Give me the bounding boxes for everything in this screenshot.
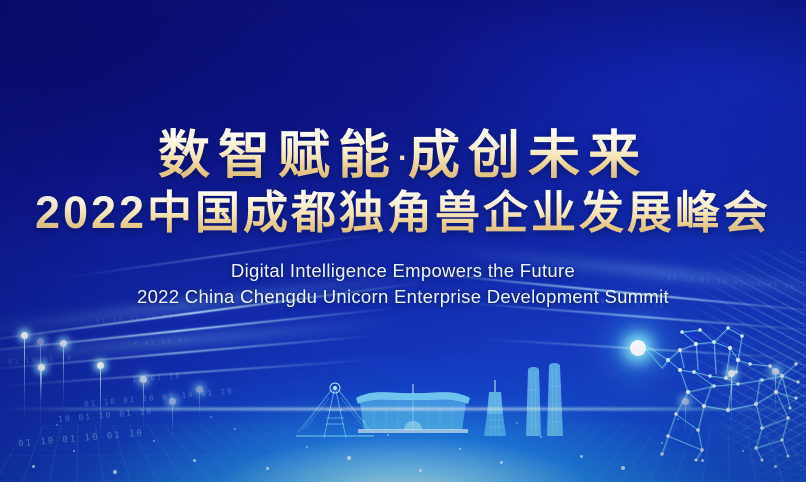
sub-title-cn: 2022中国成都独角兽企业发展峰会 [0,186,806,239]
subtitle-en-line2: 2022 China Chengdu Unicorn Enterprise De… [0,284,806,310]
title-block: 数智赋能·成创未来 2022中国成都独角兽企业发展峰会 [0,128,806,239]
subtitle-en-line1: Digital Intelligence Empowers the Future [0,258,806,284]
unicorn-wireframe-icon [610,314,800,464]
title-separator-dot: · [398,142,408,175]
main-title-cn-part1: 数智赋能 [158,127,398,185]
binary-code-text: 01 10 01 10 01 [96,312,175,324]
subtitle-block: Digital Intelligence Empowers the Future… [0,258,806,311]
summit-poster: 01 10 01 10 01 10 10 01 10 01 10 01 10 0… [0,0,806,482]
main-title-cn: 数智赋能·成创未来 [0,128,806,184]
unicorn-horn-glow [630,340,646,356]
main-title-cn-part2: 成创未来 [408,127,648,185]
